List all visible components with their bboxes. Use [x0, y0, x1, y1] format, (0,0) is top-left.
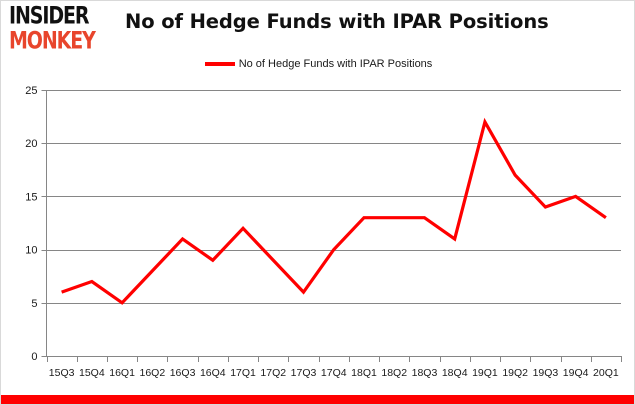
- x-axis-tick-label: 16Q1: [109, 367, 135, 379]
- x-axis-tick-label: 18Q2: [381, 367, 407, 379]
- x-axis-ticks-group: 15Q315Q416Q116Q216Q316Q417Q117Q217Q317Q4…: [48, 356, 622, 379]
- x-axis-tick-label: 16Q3: [170, 367, 196, 379]
- y-axis-tick-label: 15: [25, 191, 37, 203]
- x-axis-tick-label: 18Q1: [351, 367, 377, 379]
- x-axis-tick-label: 18Q3: [412, 367, 438, 379]
- x-axis-tick-label: 17Q4: [321, 367, 347, 379]
- y-axis-tick-label: 25: [25, 85, 37, 97]
- x-axis-tick-label: 20Q1: [593, 367, 619, 379]
- x-axis-tick-label: 17Q1: [230, 367, 256, 379]
- y-axis-tick-label: 20: [25, 138, 37, 150]
- x-axis-tick-label: 16Q2: [139, 367, 165, 379]
- x-axis-tick-label: 15Q4: [79, 367, 105, 379]
- line-chart-svg: 0510152025 15Q315Q416Q116Q216Q316Q417Q11…: [1, 1, 635, 405]
- x-axis-tick-label: 19Q2: [502, 367, 528, 379]
- chart-page: INSIDER MONKEY No of Hedge Funds with IP…: [0, 0, 635, 405]
- y-axis-tick-label: 10: [25, 245, 37, 257]
- x-axis-tick-label: 15Q3: [49, 367, 75, 379]
- y-axis-ticks-group: 0510152025: [25, 85, 46, 363]
- y-axis-tick-label: 0: [31, 351, 37, 363]
- bottom-accent-bar: [1, 395, 635, 404]
- x-axis-tick-label: 16Q4: [200, 367, 226, 379]
- x-axis-tick-label: 17Q2: [260, 367, 286, 379]
- x-axis-tick-label: 19Q4: [563, 367, 589, 379]
- y-axis-tick-label: 5: [31, 298, 37, 310]
- series-line-hedge-funds: [62, 122, 606, 303]
- x-axis-tick-label: 19Q3: [533, 367, 559, 379]
- x-axis-tick-label: 17Q3: [291, 367, 317, 379]
- x-axis-tick-label: 18Q4: [442, 367, 468, 379]
- plot-area: 0510152025 15Q315Q416Q116Q216Q316Q417Q11…: [1, 1, 635, 405]
- x-axis-tick-label: 19Q1: [472, 367, 498, 379]
